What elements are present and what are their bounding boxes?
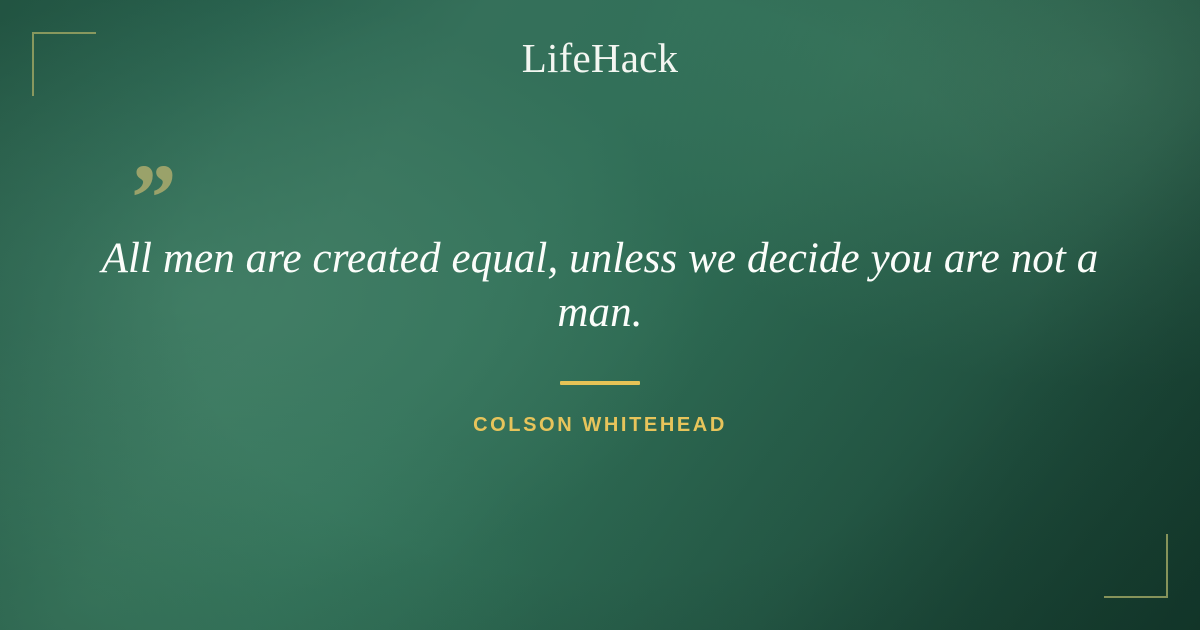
quote-block: All men are created equal, unless we dec… <box>100 232 1100 340</box>
divider-rule <box>560 381 640 385</box>
quote-line-1: All men are created equal, unless we dec… <box>100 232 1100 286</box>
quote-author: COLSON WHITEHEAD <box>0 413 1200 437</box>
quote-card: LifeHack ” All men are created equal, un… <box>0 0 1200 630</box>
divider-wrapper <box>0 381 1200 385</box>
quote-line-2: man. <box>100 286 1100 340</box>
brand-logo: LifeHack <box>0 38 1200 79</box>
